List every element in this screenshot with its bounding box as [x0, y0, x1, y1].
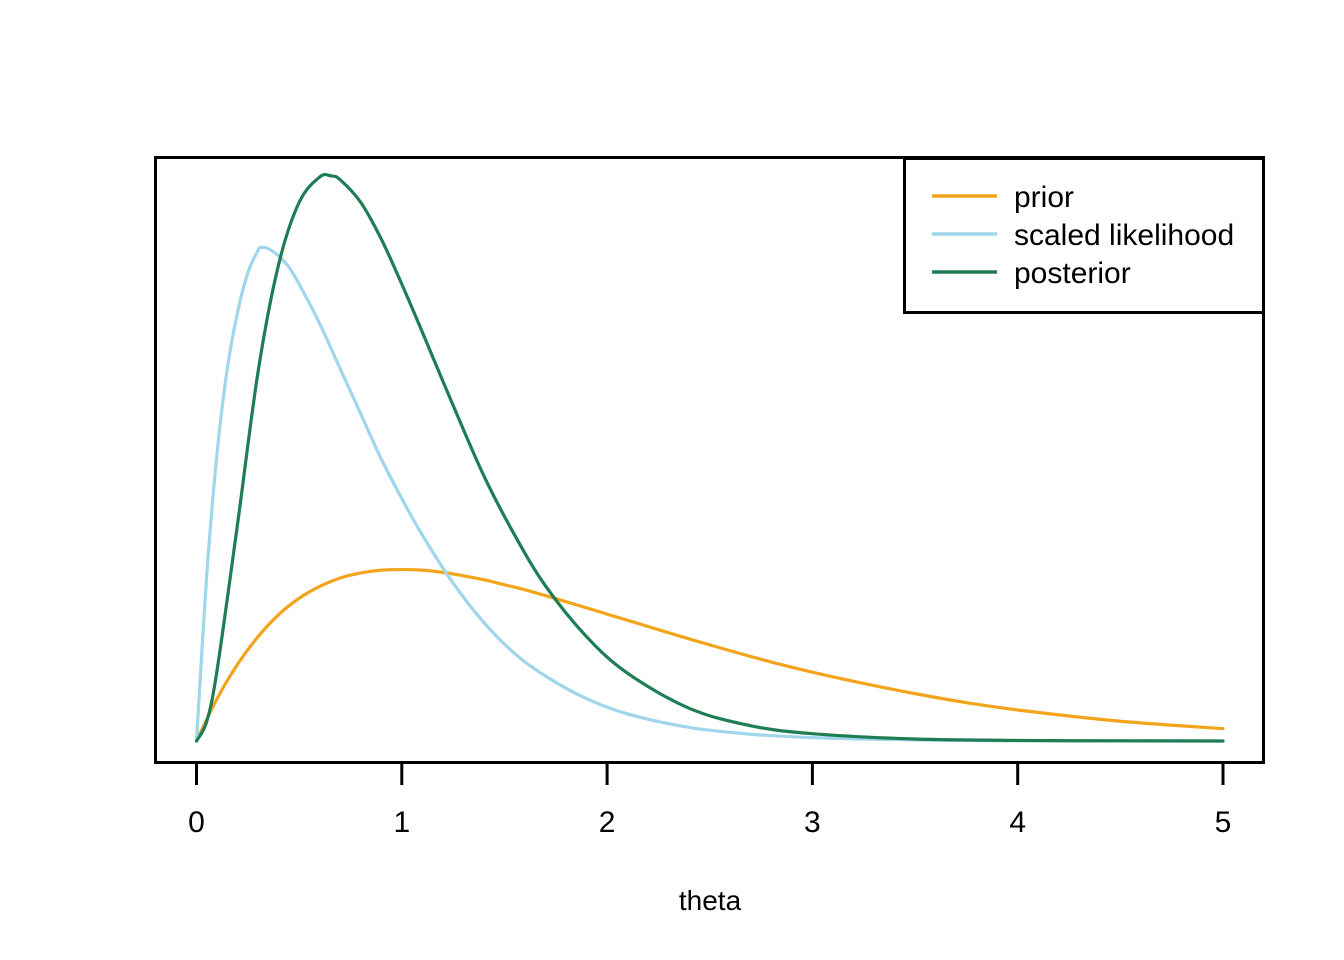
legend: priorscaled likelihoodposterior [905, 159, 1264, 313]
legend-label-scaled-likelihood: scaled likelihood [1014, 219, 1234, 252]
x-tick-label: 0 [188, 806, 205, 839]
x-tick-label: 4 [1009, 806, 1026, 839]
x-tick-label: 3 [804, 806, 821, 839]
x-axis-title: theta [679, 885, 742, 916]
legend-label-prior: prior [1014, 181, 1074, 214]
chart-container: 012345 theta priorscaled likelihoodposte… [0, 0, 1344, 960]
plot-svg: 012345 theta priorscaled likelihoodposte… [0, 0, 1344, 960]
x-tick-label: 1 [393, 806, 410, 839]
legend-label-posterior: posterior [1014, 257, 1131, 290]
x-tick-label: 2 [599, 806, 616, 839]
x-tick-label: 5 [1215, 806, 1232, 839]
